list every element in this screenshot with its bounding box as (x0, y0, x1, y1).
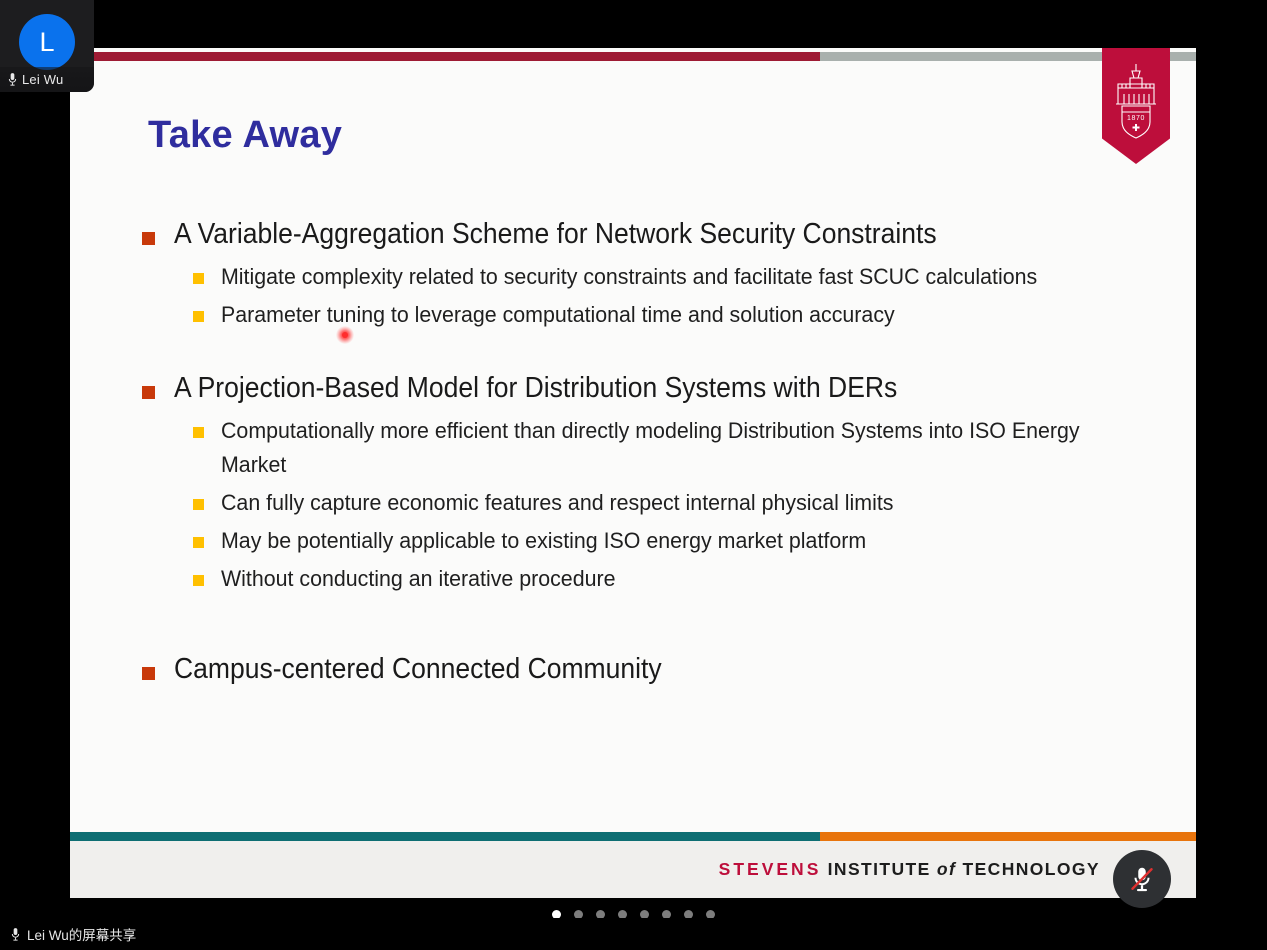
slide-section: A Variable-Aggregation Scheme for Networ… (142, 216, 1172, 332)
top-rule-crimson-segment (70, 52, 820, 61)
section-point-row: May be potentially applicable to existin… (193, 524, 1172, 558)
section-point-row: Without conducting an iterative procedur… (193, 562, 1172, 596)
section-point: Mitigate complexity related to security … (221, 260, 1037, 294)
screen-share-status-text: Lei Wu的屏幕共享 (27, 924, 136, 944)
thumbnail-name-row: Lei Wu (0, 67, 94, 92)
section-point: Without conducting an iterative procedur… (221, 562, 615, 596)
section-heading-row: A Projection-Based Model for Distributio… (142, 370, 1172, 408)
section-heading: A Variable-Aggregation Scheme for Networ… (174, 216, 937, 254)
slide-section: Campus-centered Connected Community (142, 651, 1172, 689)
section-point-row: Mitigate complexity related to security … (193, 260, 1172, 294)
shared-screen-slide[interactable]: 1870 Take Away A Variable-Aggregation Sc… (70, 48, 1196, 898)
slide-footer: STEVENS INSTITUTE of TECHNOLOGY (70, 841, 1196, 898)
slide-body: A Variable-Aggregation Scheme for Networ… (142, 216, 1172, 694)
svg-text:1870: 1870 (1127, 115, 1145, 122)
section-point: Can fully capture economic features and … (221, 486, 893, 520)
wordmark-of: of (937, 859, 956, 879)
section-point: May be potentially applicable to existin… (221, 524, 866, 558)
bullet-square-icon (142, 667, 155, 680)
bottom-rule-orange-segment (820, 832, 1196, 841)
mute-microphone-button[interactable] (1113, 850, 1171, 908)
sub-bullet-square-icon (193, 273, 204, 284)
section-heading: A Projection-Based Model for Distributio… (174, 370, 897, 408)
sub-bullet-square-icon (193, 575, 204, 586)
stevens-shield-logo: 1870 (1102, 48, 1170, 164)
stevens-castle-icon: 1870 (1102, 58, 1170, 150)
sub-bullet-square-icon (193, 537, 204, 548)
section-spacer (142, 601, 1172, 651)
section-heading-row: A Variable-Aggregation Scheme for Networ… (142, 216, 1172, 254)
section-point: Parameter tuning to leverage computation… (221, 298, 895, 332)
bullet-square-icon (142, 232, 155, 245)
section-point-row: Parameter tuning to leverage computation… (193, 298, 1172, 332)
section-heading-row: Campus-centered Connected Community (142, 651, 1172, 689)
section-point: Computationally more efficient than dire… (221, 414, 1086, 482)
sub-bullet-square-icon (193, 427, 204, 438)
wordmark-stevens: STEVENS (719, 859, 822, 879)
slide-bottom-rule (70, 832, 1196, 841)
section-point-row: Can fully capture economic features and … (193, 486, 1172, 520)
section-heading: Campus-centered Connected Community (174, 651, 662, 689)
section-point-row: Computationally more efficient than dire… (193, 414, 1172, 482)
section-spacer (142, 336, 1172, 370)
zoom-meeting-window: 1870 Take Away A Variable-Aggregation Sc… (0, 0, 1267, 950)
bottom-rule-teal-segment (70, 832, 820, 841)
slide-section: A Projection-Based Model for Distributio… (142, 370, 1172, 597)
microphone-muted-icon (1127, 864, 1157, 894)
wordmark-institute: INSTITUTE (828, 859, 931, 879)
wordmark-technology: TECHNOLOGY (963, 859, 1100, 879)
microphone-icon (10, 927, 21, 942)
stevens-wordmark: STEVENS INSTITUTE of TECHNOLOGY (719, 859, 1100, 880)
slide-top-rule (70, 52, 1196, 61)
microphone-icon (7, 72, 18, 87)
sub-bullet-square-icon (193, 499, 204, 510)
self-view-thumbnail[interactable]: L Lei Wu (0, 0, 94, 92)
bullet-square-icon (142, 386, 155, 399)
participant-name: Lei Wu (22, 72, 63, 87)
avatar: L (19, 14, 75, 70)
slide-title: Take Away (148, 116, 342, 154)
screen-share-status-bar: Lei Wu的屏幕共享 (0, 918, 1267, 950)
sub-bullet-square-icon (193, 311, 204, 322)
